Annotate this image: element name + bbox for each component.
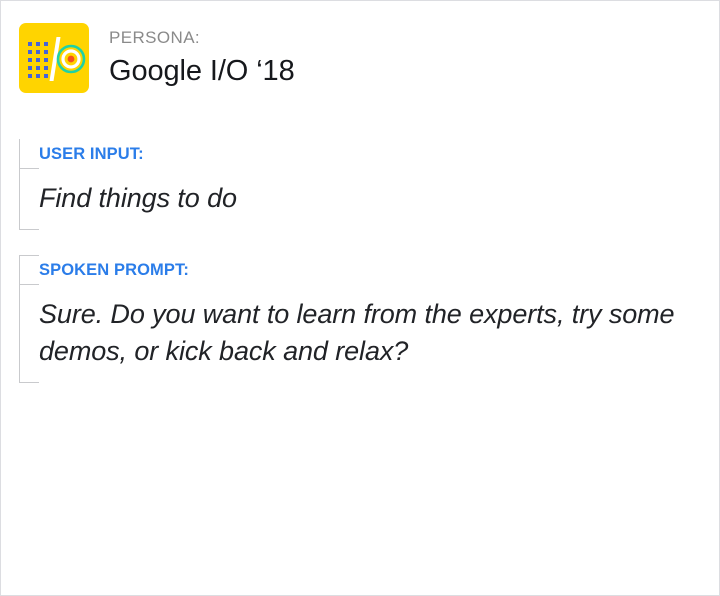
persona-text-block: PERSONA: Google I/O ‘18 — [109, 23, 295, 90]
spoken-prompt-value: Sure. Do you want to learn from the expe… — [39, 296, 695, 370]
user-input-label: USER INPUT: — [39, 144, 144, 164]
user-input-value: Find things to do — [39, 180, 695, 217]
persona-dialogue-card: PERSONA: Google I/O ‘18 USER INPUT: Find… — [0, 0, 720, 596]
bracket-tick-icon — [19, 255, 39, 256]
field-user-input: USER INPUT: Find things to do — [19, 139, 695, 230]
user-input-label-bracket: USER INPUT: — [19, 139, 695, 169]
field-spoken-prompt: SPOKEN PROMPT: Sure. Do you want to lear… — [19, 255, 695, 383]
persona-label: PERSONA: — [109, 27, 295, 49]
bracket-tick-icon — [19, 382, 39, 383]
page-title: Google I/O ‘18 — [109, 52, 295, 90]
spoken-prompt-label: SPOKEN PROMPT: — [39, 260, 189, 280]
spoken-prompt-label-bracket: SPOKEN PROMPT: — [19, 255, 695, 285]
google-io-logo-glyph — [19, 23, 89, 93]
bracket-tick-icon — [19, 229, 39, 230]
user-input-value-bracket: Find things to do — [19, 169, 695, 230]
spoken-prompt-value-bracket: Sure. Do you want to learn from the expe… — [19, 285, 695, 383]
persona-header: PERSONA: Google I/O ‘18 — [19, 23, 295, 93]
google-io-logo-icon — [19, 23, 89, 93]
